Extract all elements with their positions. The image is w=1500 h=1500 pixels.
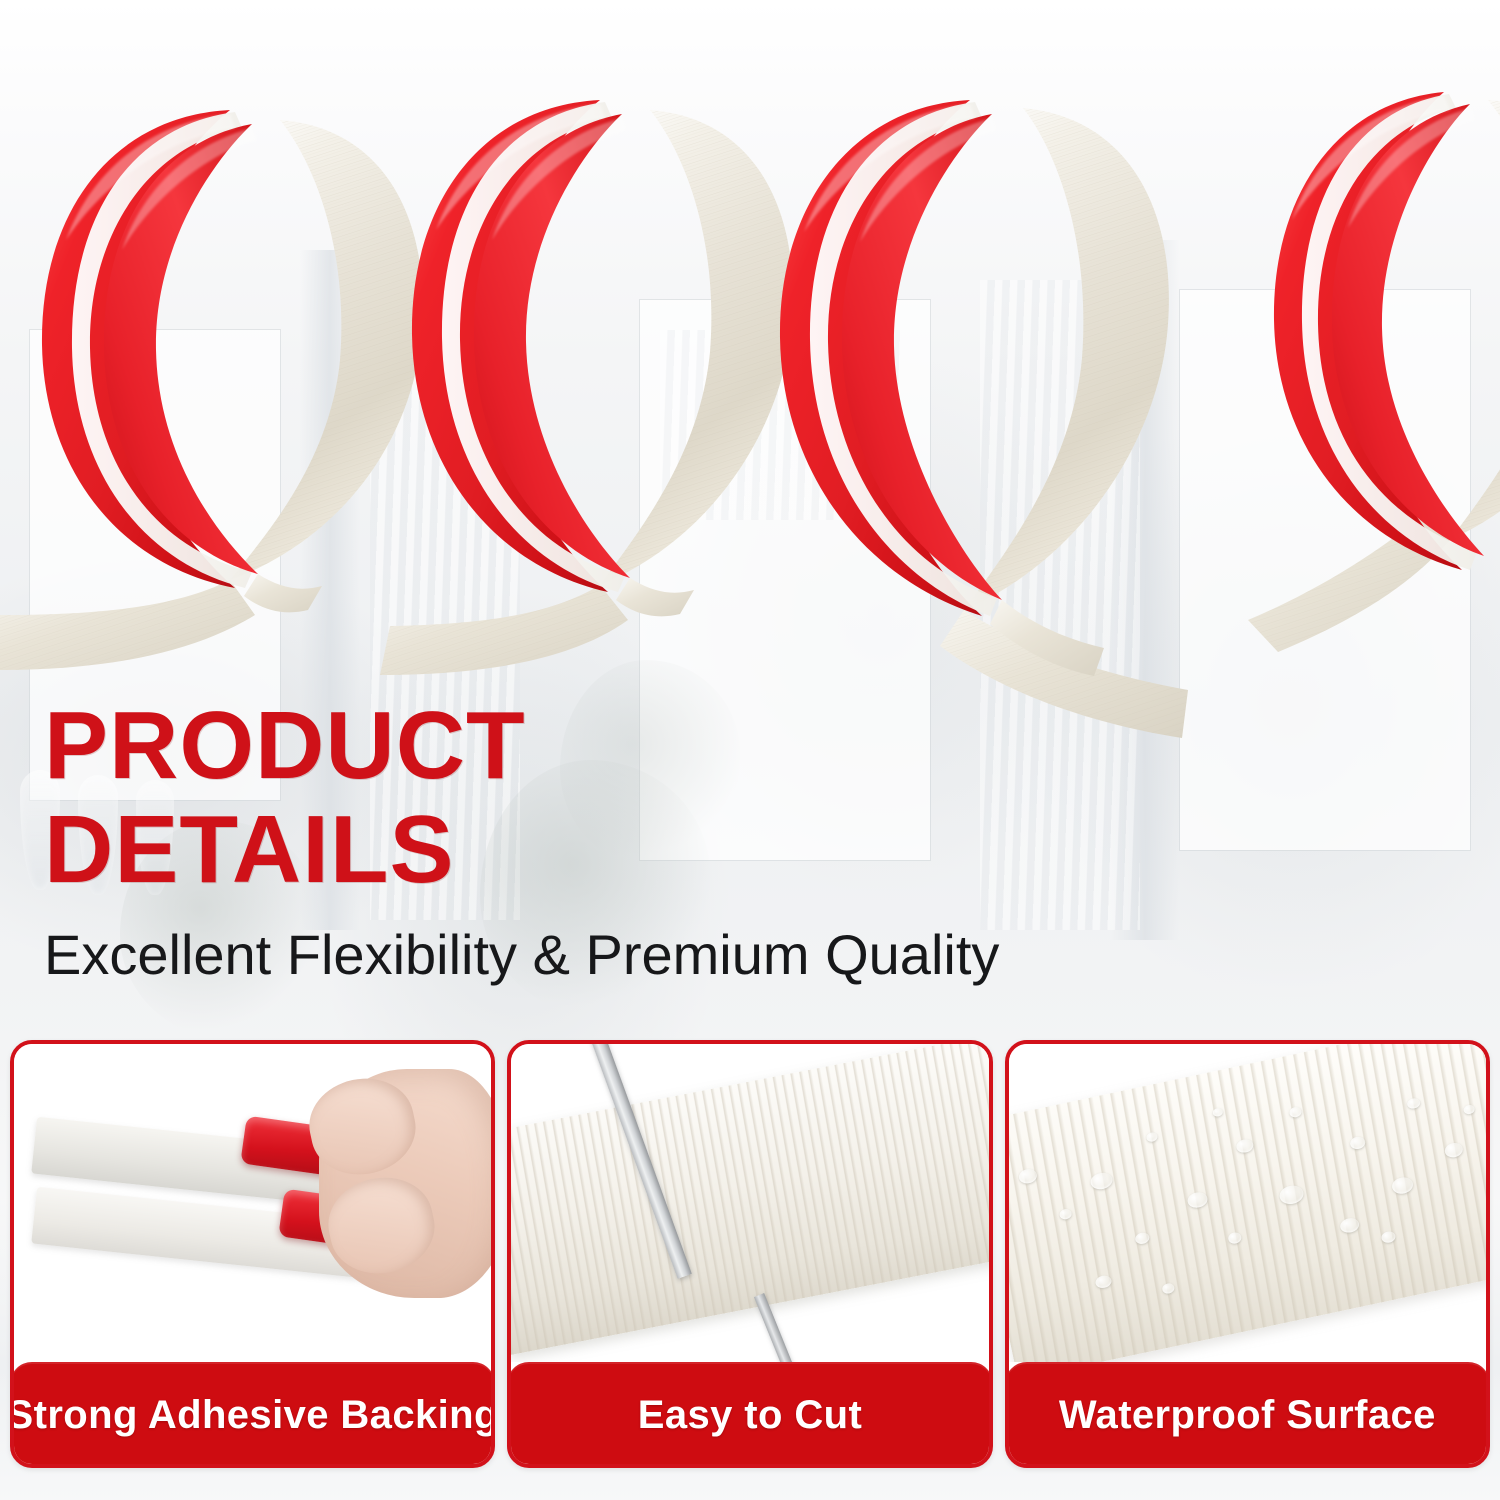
feature-caption-bar-waterproof: Waterproof Surface — [1005, 1362, 1490, 1468]
coil-roll-3 — [780, 100, 1188, 738]
coil-svg — [0, 0, 1500, 740]
page-title-line-1: PRODUCT — [44, 694, 1224, 798]
feature-caption-text-adhesive: Strong Adhesive Backing — [10, 1393, 495, 1438]
feature-caption-bar-adhesive: Strong Adhesive Backing — [10, 1362, 495, 1468]
page-subtitle: Excellent Flexibility & Premium Quality — [44, 924, 1224, 986]
water-droplet — [1235, 1138, 1254, 1154]
water-droplet — [1288, 1106, 1302, 1118]
page-title-line-2: DETAILS — [44, 798, 1224, 902]
product-detail-image: PRODUCT DETAILS Excellent Flexibility & … — [0, 0, 1500, 1500]
water-droplet — [1212, 1107, 1223, 1117]
coil-roll-4 — [1248, 92, 1500, 652]
feature-panel-waterproof[interactable]: Waterproof Surface — [1005, 1040, 1490, 1468]
water-droplet — [1135, 1232, 1151, 1246]
trim-strip-woodgrain — [511, 1044, 988, 1355]
water-droplet — [1227, 1231, 1242, 1244]
water-droplet — [1186, 1190, 1209, 1209]
water-droplet — [1339, 1217, 1360, 1235]
water-droplet — [1089, 1171, 1114, 1191]
trim-strip-wet — [1009, 1044, 1486, 1362]
feature-caption-bar-cut: Easy to Cut — [507, 1362, 992, 1468]
water-droplet — [1349, 1136, 1366, 1151]
feature-photo-adhesive — [14, 1044, 491, 1362]
feature-photo-waterproof — [1009, 1044, 1486, 1362]
feature-panel-row: Strong Adhesive Backing Easy to Cut — [0, 1040, 1500, 1468]
feature-photo-cut — [511, 1044, 988, 1362]
coil-roll-1 — [0, 110, 423, 670]
water-droplet — [1278, 1184, 1305, 1207]
hero-coiled-tape-group — [0, 0, 1500, 740]
title-block: PRODUCT DETAILS Excellent Flexibility & … — [44, 694, 1224, 986]
water-droplet — [1058, 1209, 1072, 1221]
water-droplet — [1462, 1104, 1475, 1115]
water-droplet — [1017, 1168, 1038, 1185]
water-droplet — [1146, 1132, 1159, 1143]
water-droplet — [1162, 1283, 1176, 1295]
feature-caption-text-waterproof: Waterproof Surface — [1059, 1393, 1436, 1438]
feature-caption-text-cut: Easy to Cut — [638, 1393, 862, 1438]
feature-panel-adhesive[interactable]: Strong Adhesive Backing — [10, 1040, 495, 1468]
water-droplet — [1406, 1097, 1421, 1109]
water-droplet — [1380, 1230, 1396, 1244]
water-droplet — [1095, 1275, 1113, 1290]
water-droplet — [1391, 1176, 1415, 1196]
water-droplet — [1443, 1142, 1464, 1159]
coil-roll-2 — [380, 100, 793, 675]
feature-panel-cut[interactable]: Easy to Cut — [507, 1040, 992, 1468]
